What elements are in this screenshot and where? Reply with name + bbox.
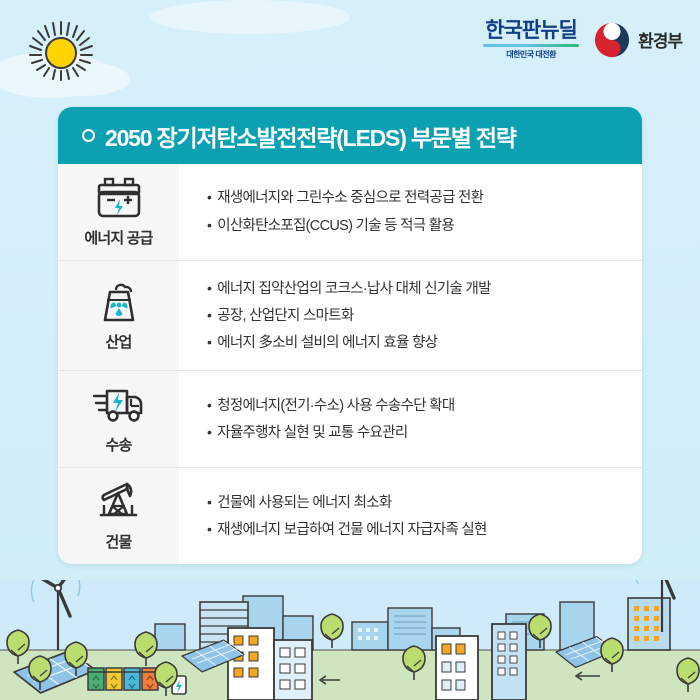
truck-icon <box>93 383 145 427</box>
list-item: • 재생에너지와 그린수소 중심으로 전력공급 전환 <box>207 185 626 212</box>
list-item: • 건물에 사용되는 에너지 최소화 <box>207 489 626 516</box>
list-item-text: 공장, 산업단지 스마트화 <box>217 305 353 327</box>
list-item-text: 에너지 집약산업의 코크스·납사 대체 신기술 개발 <box>217 278 491 300</box>
list-item: • 자율주행차 실현 및 교통 수요관리 <box>207 419 626 446</box>
power-plant-icon <box>96 280 142 324</box>
row-label: 수송 <box>105 434 131 455</box>
poster-header: 한국판뉴딜 대한민국 대전환 환경부 <box>0 0 700 100</box>
kpd-underline <box>483 44 579 47</box>
table-row: 에너지 공급 • 재생에너지와 그린수소 중심으로 전력공급 전환 • 이산화탄… <box>58 164 642 260</box>
oil-pumpjack-icon <box>96 480 142 524</box>
row-text-cell-transport: • 청정에너지(전기·수소) 사용 수송수단 확대 • 자율주행차 실현 및 교… <box>179 371 642 467</box>
strategy-card: 2050 장기저탄소발전전략(LEDS) 부문별 전략 <box>58 107 642 564</box>
row-icon-cell-energy-supply: 에너지 공급 <box>58 164 179 260</box>
list-item: • 청정에너지(전기·수소) 사용 수송수단 확대 <box>207 392 626 419</box>
table-row: 산업 • 에너지 집약산업의 코크스·납사 대체 신기술 개발 • 공장, 산업… <box>58 260 642 370</box>
table-row: 수송 • 청정에너지(전기·수소) 사용 수송수단 확대 • 자율주행차 실현 … <box>58 370 642 467</box>
page-title: 2050 장기저탄소발전전략(LEDS) 부문별 전략 <box>105 119 516 153</box>
bullet-marker: • <box>207 187 211 208</box>
row-label: 에너지 공급 <box>84 227 152 248</box>
row-icon-cell-industry: 산업 <box>58 261 179 370</box>
list-item: • 에너지 多소비 설비의 에너지 효율 향상 <box>207 329 626 356</box>
list-item: • 이산화탄소포집(CCUS) 기술 등 적극 활용 <box>207 212 626 239</box>
bullet-marker: • <box>207 395 211 416</box>
list-item: • 재생에너지 보급하여 건물 에너지 자급자족 실현 <box>207 516 626 543</box>
row-label: 건물 <box>105 531 131 552</box>
infographic-poster: 한국판뉴딜 대한민국 대전환 환경부 2050 장기저탄소발전전략(LEDS) … <box>0 0 700 700</box>
list-item: • 에너지 집약산업의 코크스·납사 대체 신기술 개발 <box>207 275 626 302</box>
bullet-marker: • <box>207 278 211 299</box>
ministry-name: 환경부 <box>638 27 682 52</box>
list-item-text: 청정에너지(전기·수소) 사용 수송수단 확대 <box>217 395 454 417</box>
row-icon-cell-building: 건물 <box>58 468 179 564</box>
circle-marker-icon <box>82 129 95 142</box>
card-header: 2050 장기저탄소발전전략(LEDS) 부문별 전략 <box>58 107 642 164</box>
table-row: 건물 • 건물에 사용되는 에너지 최소화 • 재생에너지 보급하여 건물 에너… <box>58 467 642 564</box>
list-item-text: 재생에너지 보급하여 건물 에너지 자급자족 실현 <box>217 519 486 541</box>
list-item-text: 재생에너지와 그린수소 중심으로 전력공급 전환 <box>217 187 483 209</box>
row-text-cell-industry: • 에너지 집약산업의 코크스·납사 대체 신기술 개발 • 공장, 산업단지 … <box>179 261 642 370</box>
bullet-marker: • <box>207 305 211 326</box>
row-text-cell-energy-supply: • 재생에너지와 그린수소 중심으로 전력공급 전환 • 이산화탄소포집(CCU… <box>179 164 642 260</box>
bullet-marker: • <box>207 215 211 236</box>
row-icon-cell-transport: 수송 <box>58 371 179 467</box>
battery-icon <box>96 176 142 220</box>
list-item-text: 자율주행차 실현 및 교통 수요관리 <box>217 422 407 444</box>
card-body: 에너지 공급 • 재생에너지와 그린수소 중심으로 전력공급 전환 • 이산화탄… <box>58 164 642 564</box>
kpd-main-text: 한국판뉴딜 <box>485 20 577 41</box>
bullet-marker: • <box>207 519 211 540</box>
header-logos: 한국판뉴딜 대한민국 대전환 환경부 <box>483 20 682 59</box>
bullet-marker: • <box>207 332 211 353</box>
list-item-text: 에너지 多소비 설비의 에너지 효율 향상 <box>217 332 437 354</box>
taegeuk-icon <box>593 21 631 59</box>
korean-new-deal-logo: 한국판뉴딜 대한민국 대전환 <box>483 20 579 59</box>
bullet-marker: • <box>207 492 211 513</box>
list-item-text: 건물에 사용되는 에너지 최소화 <box>217 492 391 514</box>
bullet-marker: • <box>207 422 211 443</box>
list-item-text: 이산화탄소포집(CCUS) 기술 등 적극 활용 <box>217 215 454 237</box>
green-city-illustration <box>0 580 700 700</box>
row-label: 산업 <box>105 331 131 352</box>
row-text-cell-building: • 건물에 사용되는 에너지 최소화 • 재생에너지 보급하여 건물 에너지 자… <box>179 468 642 564</box>
ministry-of-environment-logo: 환경부 <box>593 21 682 59</box>
kpd-sub-text: 대한민국 대전환 <box>506 51 556 59</box>
sun-icon <box>22 18 100 86</box>
list-item: • 공장, 산업단지 스마트화 <box>207 302 626 329</box>
